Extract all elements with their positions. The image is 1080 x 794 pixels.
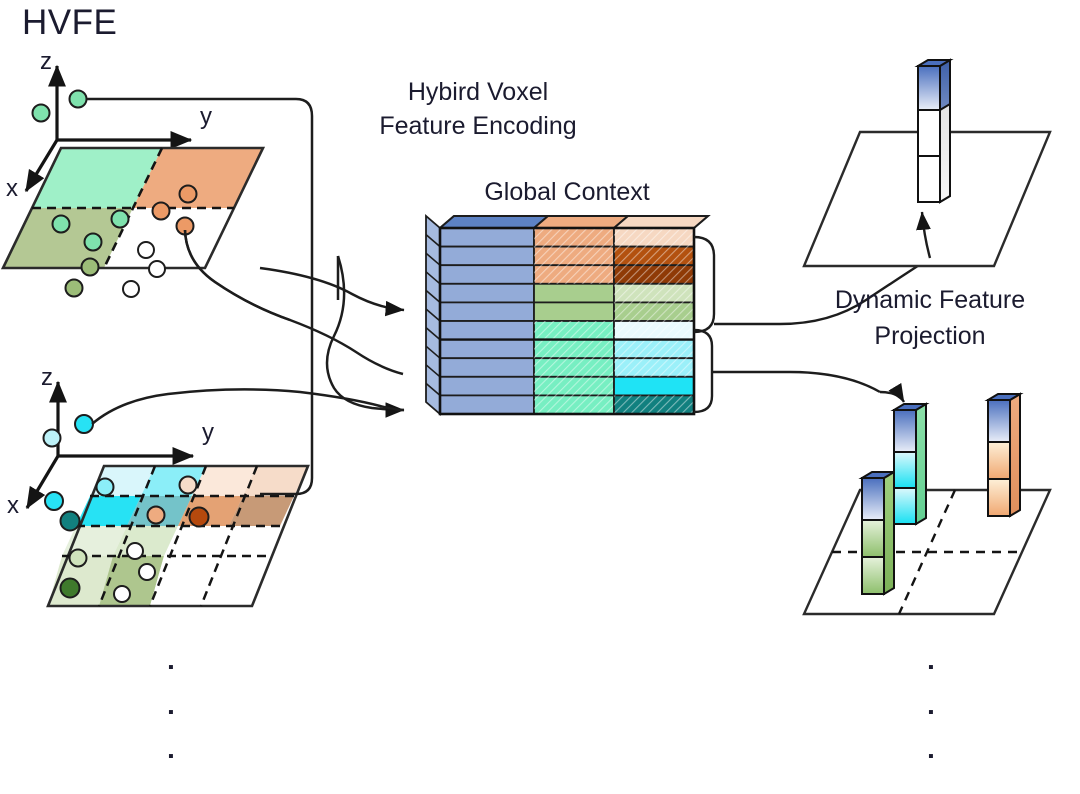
voxel-point: [45, 492, 63, 510]
gc-column-1: [534, 228, 614, 414]
pillar-side: [1010, 394, 1020, 516]
global-context-block: [426, 216, 708, 414]
voxel-point: [66, 280, 83, 297]
pillar-segment: [862, 520, 884, 557]
top-point-cloud-group: [3, 66, 263, 297]
voxel-point: [138, 242, 154, 258]
voxel-point: [97, 479, 114, 496]
voxel-point-floating: [70, 91, 87, 108]
pillar-orange: [988, 394, 1020, 516]
gc-cell: [534, 284, 614, 303]
hvfe-caption-line1: Hybird Voxel: [366, 78, 590, 108]
voxel-point: [148, 507, 165, 524]
gc-top-face-blue: [440, 216, 548, 228]
bottom-axis-label-z: z: [41, 364, 53, 392]
voxel-point-floating: [33, 105, 50, 122]
top-axis-label-z: z: [40, 48, 52, 76]
pillar-segment: [918, 66, 940, 110]
gc-top-face-orange: [534, 216, 628, 228]
arrow-to-bottom-pillar: [880, 392, 904, 402]
pillar-segment: [918, 156, 940, 202]
voxel-point: [61, 579, 80, 598]
diagram-root: HVFE z y x z y x Hybird Voxel Feature En…: [0, 0, 1080, 690]
bottom-axis-label-y: y: [202, 419, 214, 447]
pillar-side: [916, 404, 926, 524]
voxel-point: [153, 203, 170, 220]
gc-cell: [440, 302, 534, 321]
gc-cell: [440, 284, 534, 303]
voxel-point-floating: [75, 415, 93, 433]
ellipsis-dot: ▪: [168, 750, 186, 765]
bottom-floating-points: [44, 415, 94, 447]
top-axis-label-x: x: [6, 175, 18, 203]
ellipsis-dot: ▪: [928, 661, 946, 676]
ellipsis-dot: ▪: [168, 706, 186, 721]
voxel-point: [112, 211, 129, 228]
gc-cell: [440, 377, 534, 396]
voxel-point: [180, 186, 197, 203]
voxel-point: [85, 234, 102, 251]
pillar-segment: [894, 410, 916, 452]
voxel-point: [139, 564, 155, 580]
top-axis-label-y: y: [200, 103, 212, 131]
gc-left-depth-face: [426, 216, 440, 414]
ellipsis-dot: ▪: [928, 706, 946, 721]
pillar-segment: [862, 478, 884, 520]
ellipsis-dot: ▪: [168, 661, 186, 676]
dfp-caption-line2: Projection: [822, 322, 1038, 352]
pillar-segment: [862, 557, 884, 594]
pillar-segment: [894, 488, 916, 524]
pillar-green: [862, 472, 894, 594]
gc-cell: [440, 340, 534, 359]
voxel-point: [82, 259, 99, 276]
gc-cell: [440, 395, 534, 414]
hvfe-caption-line2: Feature Encoding: [346, 112, 610, 142]
gc-top-face-orange-light: [614, 216, 708, 228]
voxel-point: [190, 508, 209, 527]
pillar-segment: [988, 400, 1010, 442]
voxel-point: [61, 512, 80, 531]
pillar-cyan: [894, 404, 926, 524]
projection-plane-bottom: [804, 392, 1050, 614]
gc-cell: [440, 358, 534, 377]
curve-bottom-floating-to-gc: [92, 389, 404, 424]
pillar-segment: [988, 479, 1010, 516]
pillar-empty: [918, 60, 950, 202]
gc-cell: [440, 247, 534, 266]
top-floating-points: [33, 91, 87, 122]
voxel-point: [70, 550, 87, 567]
bottom-axis-label-x: x: [7, 492, 19, 520]
bracket-lower: [694, 330, 712, 412]
voxel-point: [127, 543, 143, 559]
gc-cell: [440, 265, 534, 284]
gc-cell: [534, 302, 614, 321]
ellipsis-right: ▪ ▪ ▪: [928, 632, 946, 794]
voxel-point: [114, 586, 130, 602]
voxel-point: [53, 216, 70, 233]
gc-cell: [440, 321, 534, 340]
global-context-label: Global Context: [448, 178, 686, 208]
pillar-segment: [894, 452, 916, 488]
voxel-point: [149, 261, 165, 277]
bracket-upper: [694, 237, 714, 332]
page-title: HVFE: [22, 2, 117, 43]
pillar-segment: [918, 110, 940, 156]
gc-cell: [440, 228, 534, 247]
arrow-into-gc-top: [260, 268, 404, 310]
gc-column-0: [440, 228, 534, 414]
line-to-bottom-plane: [712, 372, 880, 392]
voxel-point-floating: [44, 430, 61, 447]
pillar-side: [884, 472, 894, 594]
ellipsis-dot: ▪: [928, 750, 946, 765]
ellipsis-left: ▪ ▪ ▪: [168, 632, 186, 794]
pillar-segment: [988, 442, 1010, 479]
projection-plane-top: [804, 60, 1050, 266]
voxel-point: [180, 477, 197, 494]
dfp-caption-line1: Dynamic Feature: [810, 286, 1050, 316]
voxel-point: [123, 281, 139, 297]
gc-column-2: [614, 228, 694, 414]
pillar-side-lower: [940, 104, 950, 202]
gc-cell: [614, 377, 694, 396]
